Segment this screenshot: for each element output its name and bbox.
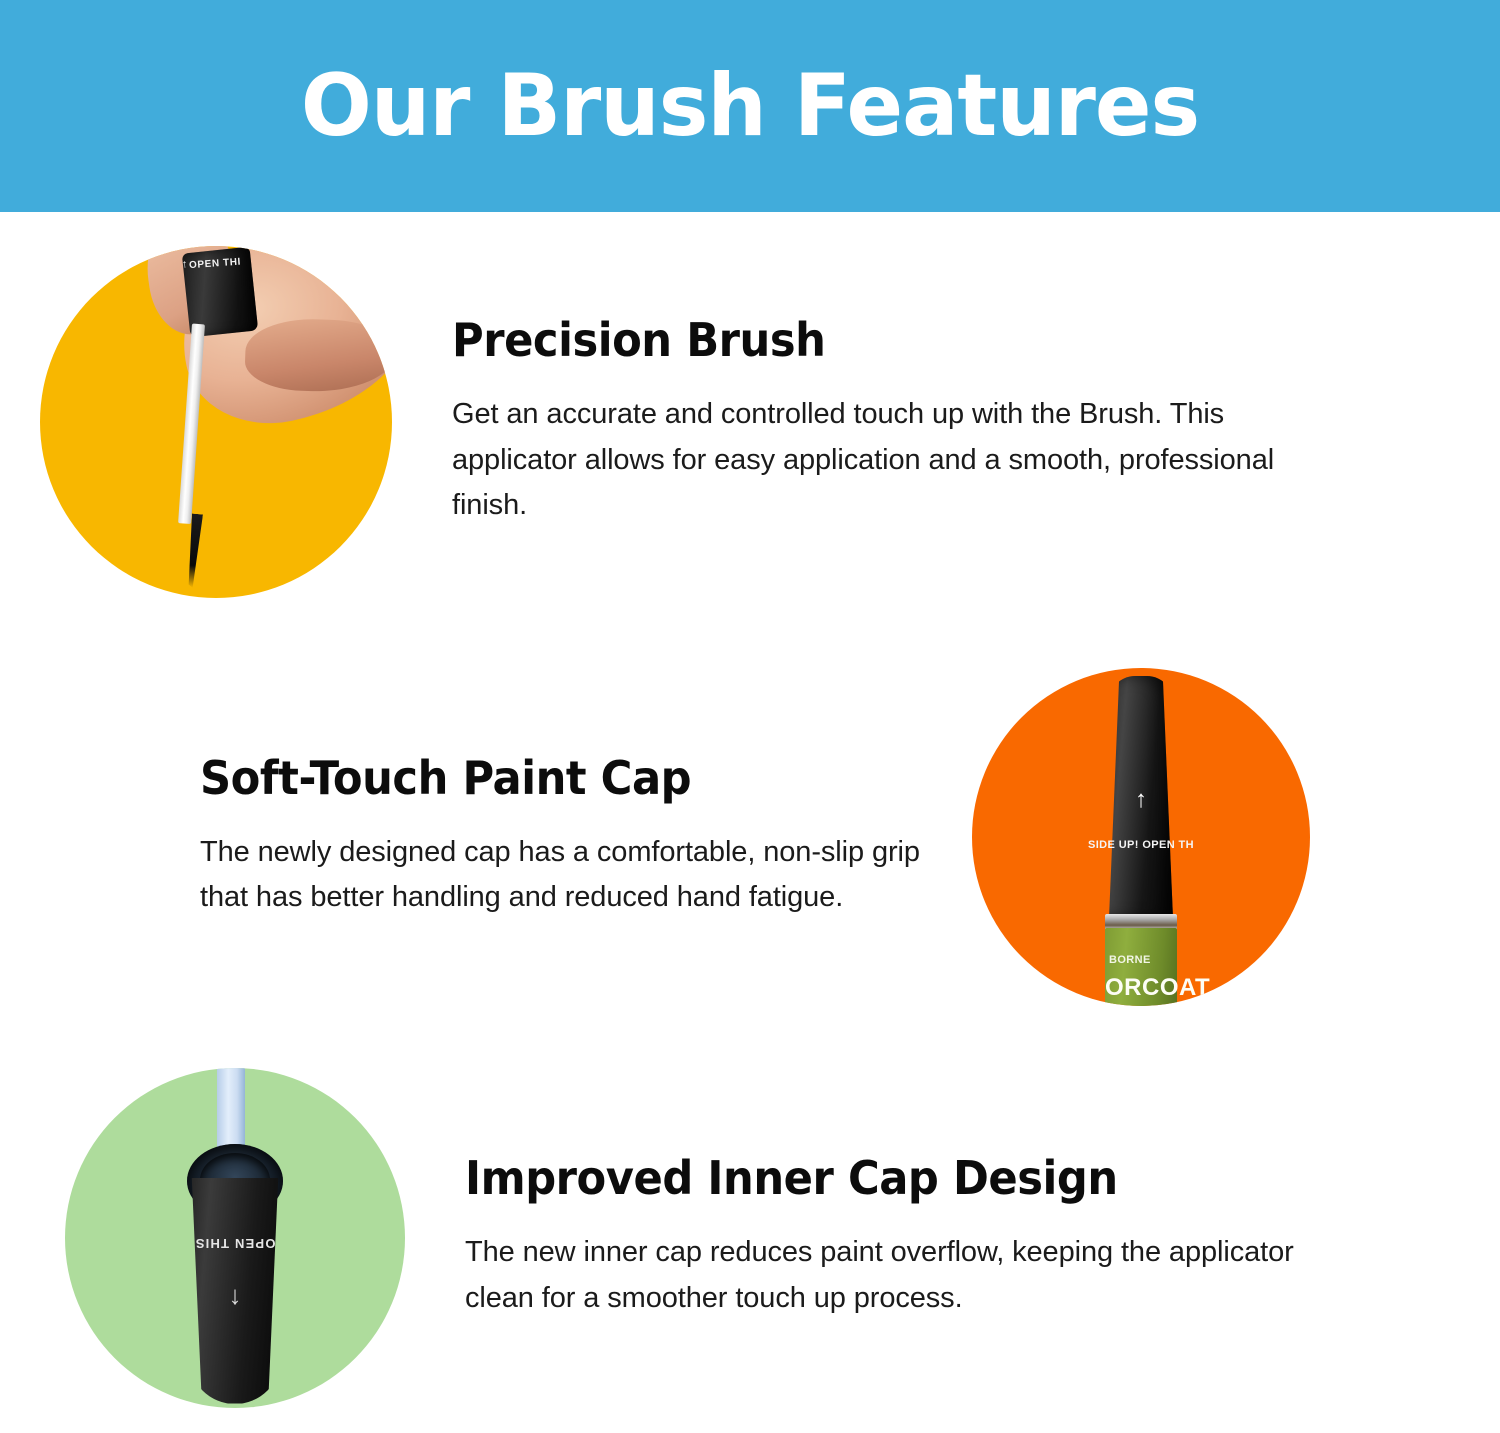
feature-image-inner-cap: OPEN THIS ↓ [65, 1068, 405, 1408]
feature-description: The new inner cap reduces paint overflow… [465, 1230, 1320, 1320]
green-pen-body-illustration: BORNE ORCOAT [1105, 928, 1177, 1006]
cap-label-text: OPEN THIS [195, 1236, 276, 1251]
feature-text-soft-touch-cap: Soft-Touch Paint Cap The newly designed … [60, 754, 972, 921]
inner-cap-illustration: OPEN THIS ↓ [175, 1086, 295, 1408]
feature-description: The newly designed cap has a comfortable… [200, 830, 932, 920]
orange-circle-photo: ↑ SIDE UP! OPEN TH BORNE ORCOAT [972, 668, 1310, 1006]
feature-section-soft-touch-cap: Soft-Touch Paint Cap The newly designed … [0, 632, 1500, 1042]
feature-title: Improved Inner Cap Design [465, 1154, 1269, 1202]
page-header-banner: Our Brush Features [0, 0, 1500, 212]
page-title: Our Brush Features [301, 63, 1199, 149]
feature-section-precision-brush: ↑ OPEN THI Precision Brush Get an accura… [0, 212, 1500, 632]
cap-arrow-icon: ↑ [1135, 788, 1147, 812]
paint-pen-illustration: ↑ SIDE UP! OPEN TH BORNE ORCOAT [1101, 676, 1181, 1006]
feature-section-inner-cap: OPEN THIS ↓ Improved Inner Cap Design Th… [0, 1042, 1500, 1433]
pen-body-label-top: BORNE [1109, 954, 1151, 966]
brush-bristles-illustration [186, 514, 203, 589]
cap-label-text: SIDE UP! OPEN TH [1088, 839, 1194, 851]
feature-description: Get an accurate and controlled touch up … [452, 392, 1310, 528]
feature-text-inner-cap: Improved Inner Cap Design The new inner … [405, 1154, 1420, 1321]
yellow-circle-photo: ↑ OPEN THI [40, 246, 392, 598]
feature-title: Precision Brush [452, 316, 1259, 364]
feature-title: Soft-Touch Paint Cap [200, 754, 888, 802]
feature-text-precision-brush: Precision Brush Get an accurate and cont… [392, 316, 1420, 528]
cap-arrow-icon: ↓ [229, 1282, 242, 1308]
applicator-stem-illustration [178, 324, 205, 524]
cap-arrow-icon: ↑ [181, 259, 188, 271]
green-circle-photo: OPEN THIS ↓ [65, 1068, 405, 1408]
feature-image-soft-touch-cap: ↑ SIDE UP! OPEN TH BORNE ORCOAT [972, 668, 1310, 1006]
cap-label-text: OPEN THI [189, 257, 242, 272]
pen-body-label-main: ORCOAT [1105, 974, 1210, 1002]
feature-image-precision-brush: ↑ OPEN THI [40, 246, 392, 598]
